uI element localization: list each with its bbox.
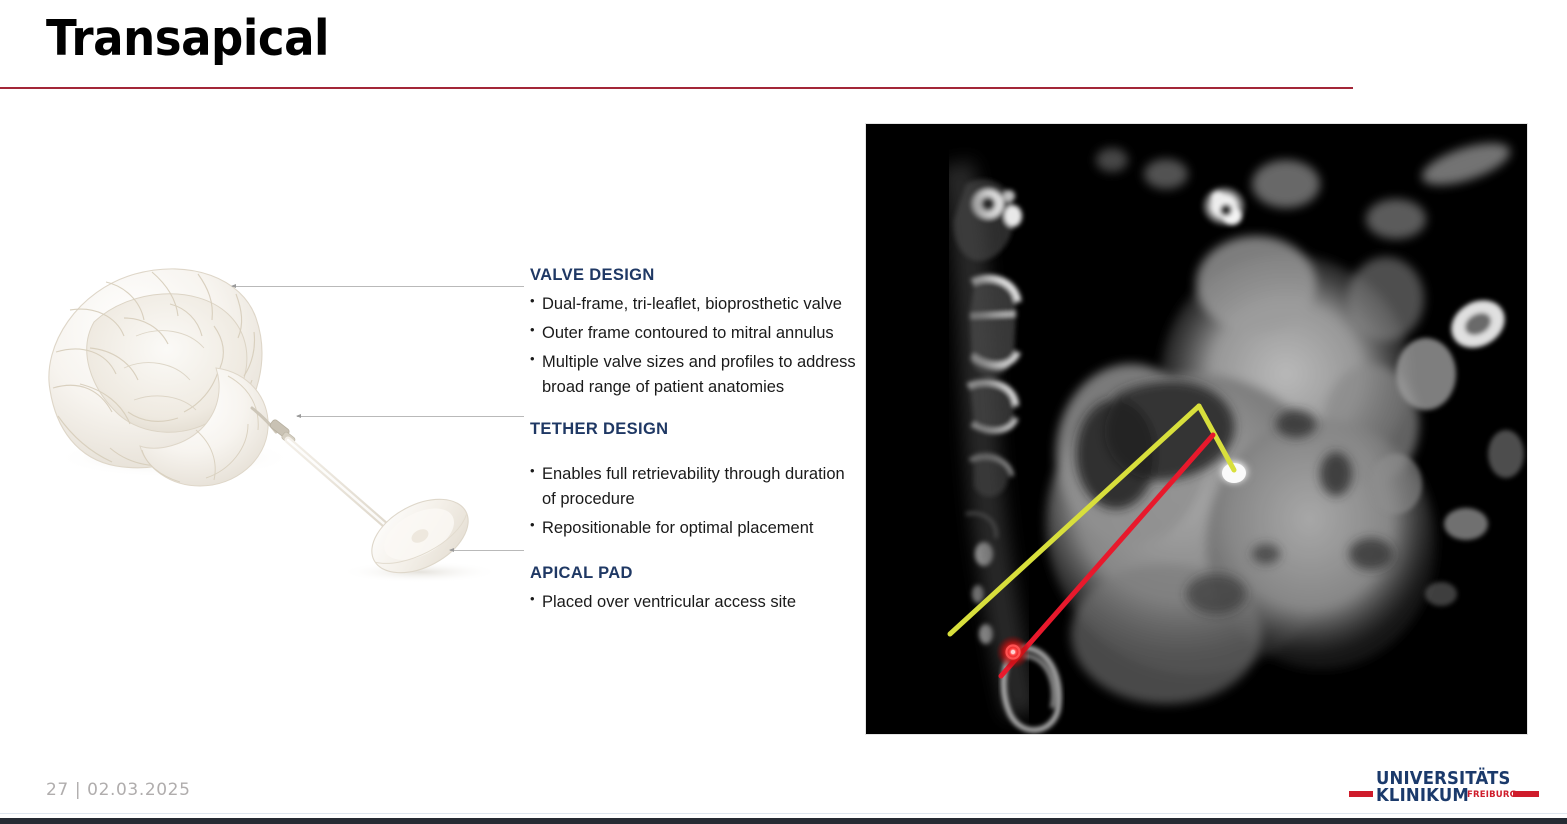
logo-bar-right xyxy=(1513,791,1539,797)
slide-root: Transapical xyxy=(0,0,1567,824)
bullet-list-apical-pad: Placed over ventricular access site xyxy=(530,590,860,615)
list-item: Enables full retrievability through dura… xyxy=(530,462,860,512)
section-heading-tether-design: TETHER DESIGN xyxy=(530,420,860,439)
section-heading-valve-design: VALVE DESIGN xyxy=(530,266,860,285)
valve-illustration xyxy=(20,240,540,600)
list-item: Outer frame contoured to mitral annulus xyxy=(530,321,860,346)
logo-text-freiburg: FREIBURG xyxy=(1467,790,1517,800)
list-item: Placed over ventricular access site xyxy=(530,590,860,615)
bottom-edge-bar xyxy=(0,818,1567,824)
slide-footer-meta: 27 | 02.03.2025 xyxy=(46,780,191,800)
spacer xyxy=(530,446,860,462)
red-entry-marker xyxy=(996,635,1030,669)
leader-line-apical-pad xyxy=(450,550,524,551)
bullet-list-valve-design: Dual-frame, tri-leaflet, bioprosthetic v… xyxy=(530,292,860,400)
university-hospital-logo: UNIVERSITÄTS KLINIKUM FREIBURG xyxy=(1349,769,1539,805)
page-title: Transapical xyxy=(46,9,329,69)
callout-apical-pad: APICAL PAD Placed over ventricular acces… xyxy=(530,564,860,615)
section-heading-apical-pad: APICAL PAD xyxy=(530,564,860,583)
ct-scan-svg xyxy=(866,124,1527,734)
list-item: Multiple valve sizes and profiles to add… xyxy=(530,350,860,400)
callout-tether-design: TETHER DESIGN Enables full retrievabilit… xyxy=(530,420,860,541)
list-item: Repositionable for optimal placement xyxy=(530,516,860,541)
tether-cord xyxy=(252,408,398,536)
title-divider xyxy=(0,87,1353,89)
leader-line-tether-design xyxy=(297,416,524,417)
ct-scan-image xyxy=(866,124,1527,734)
bottom-hairline xyxy=(0,813,1567,814)
bullet-list-tether-design: Enables full retrievability through dura… xyxy=(530,462,860,541)
valve-illustration-svg xyxy=(20,240,540,600)
logo-text-klinikum: KLINIKUM xyxy=(1376,786,1469,806)
callout-valve-design: VALVE DESIGN Dual-frame, tri-leaflet, bi… xyxy=(530,266,860,400)
callout-list: VALVE DESIGN Dual-frame, tri-leaflet, bi… xyxy=(530,266,860,619)
logo-bar-left xyxy=(1349,791,1373,797)
leader-line-valve-design xyxy=(232,286,524,287)
list-item: Dual-frame, tri-leaflet, bioprosthetic v… xyxy=(530,292,860,317)
